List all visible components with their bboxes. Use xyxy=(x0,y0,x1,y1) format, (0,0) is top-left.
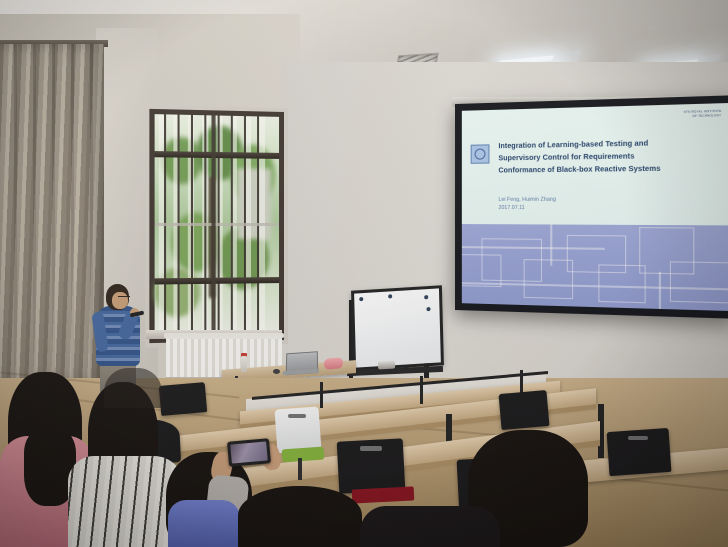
audience-member-blue-shirt xyxy=(168,500,240,547)
chair-back-black[interactable] xyxy=(159,382,207,416)
presenter-glasses xyxy=(118,296,130,301)
circuit-rect xyxy=(670,262,728,304)
window-curtain xyxy=(0,44,104,384)
lecture-room-photo: KTH ROYAL INSTITUTE OF TECHNOLOGY Integr… xyxy=(0,0,728,547)
chair-handle-slot xyxy=(288,414,306,418)
slide-title-line-3: Conformance of Black-box Reactive System… xyxy=(498,162,716,177)
mobile-whiteboard xyxy=(351,285,444,371)
chair-post xyxy=(298,458,302,480)
barred-window xyxy=(149,109,284,343)
standing-person-silhouette xyxy=(104,368,162,408)
phone-screen xyxy=(230,441,268,463)
whiteboard-magnet xyxy=(424,295,428,299)
whiteboard-magnet xyxy=(426,307,430,311)
building-behind xyxy=(237,168,271,239)
circuit-trace xyxy=(659,272,661,311)
chair-handle-slot xyxy=(628,436,648,440)
slide-lower-graphic-panel xyxy=(462,224,728,311)
whiteboard-magnet xyxy=(388,294,392,298)
desk-frame-post xyxy=(320,382,323,408)
slide-title: Integration of Learning-based Testing an… xyxy=(498,136,716,177)
circuit-trace xyxy=(550,225,552,266)
water-bottle xyxy=(241,356,247,372)
presentation-slide: KTH ROYAL INSTITUTE OF TECHNOLOGY Integr… xyxy=(462,103,728,311)
pink-bag-object xyxy=(324,357,343,369)
slide-date: 2017.07.11 xyxy=(498,204,711,212)
projection-screen: KTH ROYAL INSTITUTE OF TECHNOLOGY Integr… xyxy=(455,95,728,319)
circuit-rect xyxy=(524,259,573,299)
screen-frame: KTH ROYAL INSTITUTE OF TECHNOLOGY Integr… xyxy=(455,95,728,319)
window-frame-divider xyxy=(211,115,215,336)
whiteboard-eraser xyxy=(378,361,395,370)
smartphone-camera[interactable] xyxy=(227,438,271,467)
chair-handle-slot xyxy=(360,446,382,451)
kth-seal-logo-icon xyxy=(471,144,490,163)
whiteboard-magnet xyxy=(359,297,363,301)
chair-back-black[interactable] xyxy=(499,390,550,430)
foliage xyxy=(161,137,202,185)
computer-mouse xyxy=(273,369,280,374)
audience-member-front-row xyxy=(360,506,500,547)
audience-hair xyxy=(238,486,362,547)
desk-frame-post xyxy=(420,376,423,404)
slide-authors: Lei Feng, Huimin Zhang xyxy=(498,196,711,204)
kth-institution-mark: KTH ROYAL INSTITUTE OF TECHNOLOGY xyxy=(684,110,722,119)
window-mullion xyxy=(155,223,279,226)
slide-authors-block: Lei Feng, Huimin Zhang 2017.07.11 xyxy=(498,196,711,213)
